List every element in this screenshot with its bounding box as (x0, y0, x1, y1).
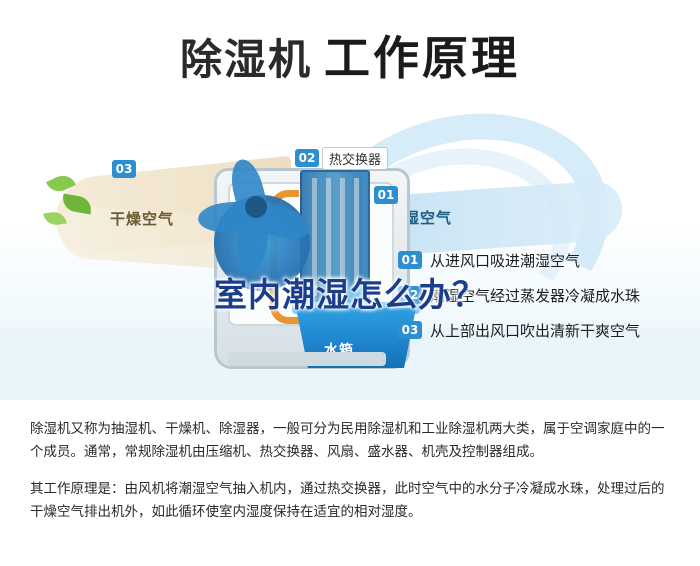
page-root: 除湿机工作原理 干燥空气 潮湿空气 水箱 (0, 0, 700, 566)
title-part-1: 除湿机 (180, 35, 312, 84)
callout-badge-02: 02 (295, 149, 319, 167)
callout-badge-03: 03 (112, 160, 136, 178)
callout-badge-01: 01 (374, 186, 398, 204)
infographic-banner: 除湿机工作原理 干燥空气 潮湿空气 水箱 (0, 0, 700, 400)
article-paragraph-1: 除湿机又称为抽湿机、干燥机、除湿器，一般可分为民用除湿机和工业除湿机两大类，属于… (30, 418, 675, 464)
article-paragraph-2: 其工作原理是：由风机将潮湿空气抽入机内，通过热交换器，此时空气中的水分子冷凝成水… (30, 478, 675, 524)
step-item: 03 从上部出风口吹出清新干爽空气 (398, 314, 688, 346)
step-number-badge: 01 (398, 251, 422, 269)
dehumidifier-base (228, 352, 386, 366)
overlay-headline: 室内潮湿怎么办？ (0, 268, 700, 316)
heat-exchanger-tag: 热交换器 (322, 147, 388, 170)
dry-air-label: 干燥空气 (110, 208, 174, 229)
fan-hub-center (245, 196, 267, 218)
title-part-2: 工作原理 (324, 31, 520, 85)
article-body: 除湿机又称为抽湿机、干燥机、除湿器，一般可分为民用除湿机和工业除湿机两大类，属于… (30, 418, 675, 524)
step-label: 从上部出风口吹出清新干爽空气 (430, 320, 640, 341)
step-number-badge: 03 (398, 321, 422, 339)
page-title: 除湿机工作原理 (0, 22, 700, 88)
